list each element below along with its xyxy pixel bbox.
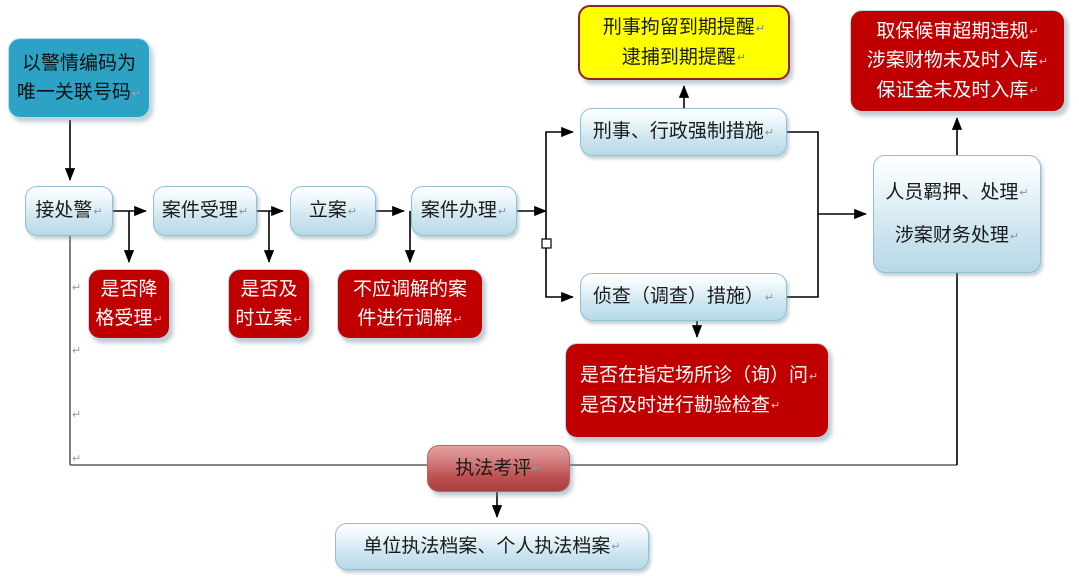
node-dangan[interactable]: 单位执法档案、个人执法档案↵ [335,523,649,570]
node-line: 唯一关联号码↵ [17,78,141,107]
node-zhenchacuoshi[interactable]: 侦查（调查）措施）↵ [580,273,787,321]
node-jiechujing[interactable]: 接处警↵ [25,186,113,236]
node-line: 刑事、行政强制措施↵ [593,117,774,146]
node-line: 涉案财务处理↵ [895,221,1019,250]
return-mark: ↵ [736,52,746,64]
node-shifoujiangge[interactable]: 是否降 格受理↵ [88,269,170,339]
node-line: 是否降 [100,275,157,304]
node-line: 人员羁押、处理↵ [885,178,1028,207]
edge-split-rail-lower [546,211,573,297]
return-mark: ↵ [152,314,162,326]
return-mark: ↵ [610,541,620,553]
return-mark: ↵ [347,206,357,218]
return-mark: ↵ [755,23,765,35]
return-mark: ↵ [292,314,302,326]
node-zhifakaoping[interactable]: 执法考评↵ [427,445,570,492]
node-violation-alert[interactable]: 取保候审超期违规↵ 涉案财物未及时入库↵ 保证金未及时入库↵ [850,10,1065,112]
node-line: 是否及时进行勘验检查↵ [580,391,780,420]
node-lian[interactable]: 立案↵ [290,186,376,236]
node-renyuanjiya[interactable]: 人员羁押、处理↵ 涉案财务处理↵ [873,155,1041,273]
edge-merge-lower [787,214,818,297]
node-line: 以警情编码为 [22,49,136,78]
node-line: 格受理↵ [95,304,162,333]
node-anjianshouli[interactable]: 案件受理↵ [153,186,257,236]
return-mark: ↵ [1038,56,1048,68]
node-line: 取保候审超期违规↵ [876,17,1038,46]
node-line: 逮捕到期提醒↵ [622,43,746,72]
node-buyingtiaojie[interactable]: 不应调解的案 件进行调解↵ [337,269,483,339]
node-xingshezhengzhi[interactable]: 刑事、行政强制措施↵ [580,108,787,156]
return-mark: ↵ [92,206,102,218]
return-mark: ↵ [497,206,507,218]
edge-split-rail [546,132,573,211]
return-mark: ↵ [1028,26,1038,38]
return-mark: ↵ [770,400,780,412]
rail-return-mark: ↵ [72,452,81,465]
node-line: 单位执法档案、个人执法档案↵ [363,532,620,561]
return-mark: ↵ [531,463,541,475]
return-mark: ↵ [1028,85,1038,97]
node-line: 接处警↵ [35,196,102,225]
node-xunwen-check[interactable]: 是否在指定场所诊（询）问↵ 是否及时进行勘验检查↵ [565,343,829,438]
rail-return-mark: ↵ [72,281,81,294]
return-mark: ↵ [1018,187,1028,199]
node-line: 时立案↵ [235,304,302,333]
node-shifoujishi[interactable]: 是否及 时立案↵ [228,269,310,339]
return-mark: ↵ [764,292,774,304]
node-line: 涉案财物未及时入库↵ [867,46,1048,75]
rail-return-mark: ↵ [72,344,81,357]
edge-merge-upper [787,132,818,214]
node-line: 件进行调解↵ [357,304,462,333]
return-mark: ↵ [238,206,248,218]
node-deadline-alert[interactable]: 刑事拘留到期提醒↵ 逮捕到期提醒↵ [578,5,790,80]
return-mark: ↵ [764,127,774,139]
node-line: 不应调解的案 [353,275,467,304]
split-rail-handle[interactable] [542,239,551,248]
return-mark: ↵ [808,371,818,383]
node-line: 侦查（调查）措施）↵ [593,282,774,311]
node-line: 是否及 [240,275,297,304]
node-line: 案件办理↵ [421,196,507,225]
node-line: 是否在指定场所诊（询）问↵ [580,361,818,390]
node-line: 立案↵ [309,196,357,225]
node-anjianbanli[interactable]: 案件办理↵ [411,186,517,236]
return-mark: ↵ [1009,231,1019,243]
node-line: 案件受理↵ [162,196,248,225]
node-line: 保证金未及时入库↵ [876,76,1038,105]
flowchart-canvas: ↵ ↵ ↵ ↵ ↵ 以警情编码为 唯一关联号码↵ 接处警↵ 案件受理↵ 立案↵ … [0,0,1079,580]
node-case-code[interactable]: 以警情编码为 唯一关联号码↵ [8,38,150,118]
rail-return-mark: ↵ [72,408,81,421]
node-line: 刑事拘留到期提醒↵ [603,13,765,42]
node-line: 执法考评↵ [455,454,541,483]
return-mark: ↵ [452,314,462,326]
return-mark: ↵ [131,88,141,100]
